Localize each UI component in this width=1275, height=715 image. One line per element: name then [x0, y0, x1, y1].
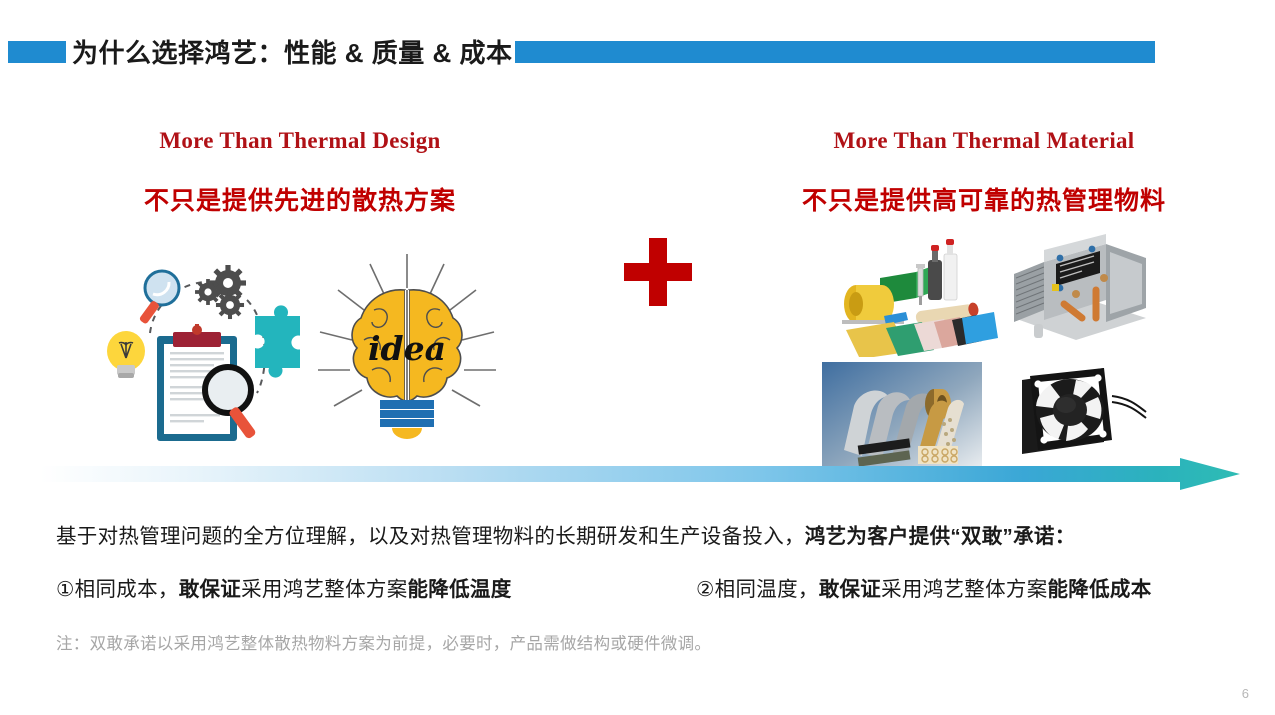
page-title: 为什么选择鸿艺：性能 & 质量 & 成本: [72, 33, 512, 70]
page-number: 6: [1242, 686, 1249, 701]
plus-operator-icon: [624, 238, 692, 306]
right-column-heading: More Than Thermal Material 不只是提供高可靠的热管理物…: [754, 128, 1214, 217]
svg-text:idea: idea: [368, 329, 446, 368]
item-2-prefix: ②相同温度，: [696, 578, 819, 601]
left-column-heading: More Than Thermal Design 不只是提供先进的散热方案: [70, 128, 530, 217]
title-rule-right: [515, 41, 1155, 63]
footnote-text: 注：双敢承诺以采用鸿艺整体散热物料方案为前提，必要时，产品需做结构或硬件微调。: [56, 630, 711, 654]
slide-title-bar: 为什么选择鸿艺：性能 & 质量 & 成本: [0, 36, 1275, 68]
commitment-item-1: ①相同成本，敢保证采用鸿艺整体方案能降低温度: [56, 578, 512, 601]
commitment-intro-bold: 鸿艺为客户提供“双敢”承诺：: [805, 525, 1076, 548]
item-1-bold-guarantee: 敢保证: [179, 578, 241, 601]
brain-idea-illustration: idea: [312, 248, 502, 453]
commitment-intro-regular: 基于对热管理问题的全方位理解，以及对热管理物料的长期研发和生产设备投入，: [56, 525, 805, 548]
commitment-intro-line: 基于对热管理问题的全方位理解，以及对热管理物料的长期研发和生产设备投入，鸿艺为客…: [56, 519, 1076, 549]
item-1-prefix: ①相同成本，: [56, 578, 179, 601]
thermal-materials-photo: [822, 232, 1002, 357]
item-1-bold-benefit: 能降低温度: [408, 578, 512, 601]
left-heading-chinese: 不只是提供先进的散热方案: [70, 181, 530, 217]
right-heading-chinese: 不只是提供高可靠的热管理物料: [754, 181, 1214, 217]
item-1-regular: 采用鸿艺整体方案: [241, 578, 407, 601]
heatsink-photo: [1004, 232, 1156, 357]
right-heading-english: More Than Thermal Material: [754, 128, 1214, 154]
item-2-regular: 采用鸿艺整体方案: [881, 578, 1047, 601]
slide-canvas: 为什么选择鸿艺：性能 & 质量 & 成本 More Than Thermal D…: [0, 0, 1275, 715]
thermal-tape-photo: [822, 362, 982, 467]
clipboard-design-illustration: [95, 248, 300, 453]
title-rule-left: [8, 41, 66, 63]
left-heading-english: More Than Thermal Design: [70, 128, 530, 154]
cooling-fan-photo: [1000, 358, 1165, 468]
item-2-bold-benefit: 能降低成本: [1048, 578, 1152, 601]
commitment-items-line: ①相同成本，敢保证采用鸿艺整体方案能降低温度 ②相同温度，敢保证采用鸿艺整体方案…: [56, 572, 1236, 602]
commitment-item-2: ②相同温度，敢保证采用鸿艺整体方案能降低成本: [696, 572, 1152, 602]
item-2-bold-guarantee: 敢保证: [819, 578, 881, 601]
gradient-arrow-divider: [40, 458, 1240, 490]
